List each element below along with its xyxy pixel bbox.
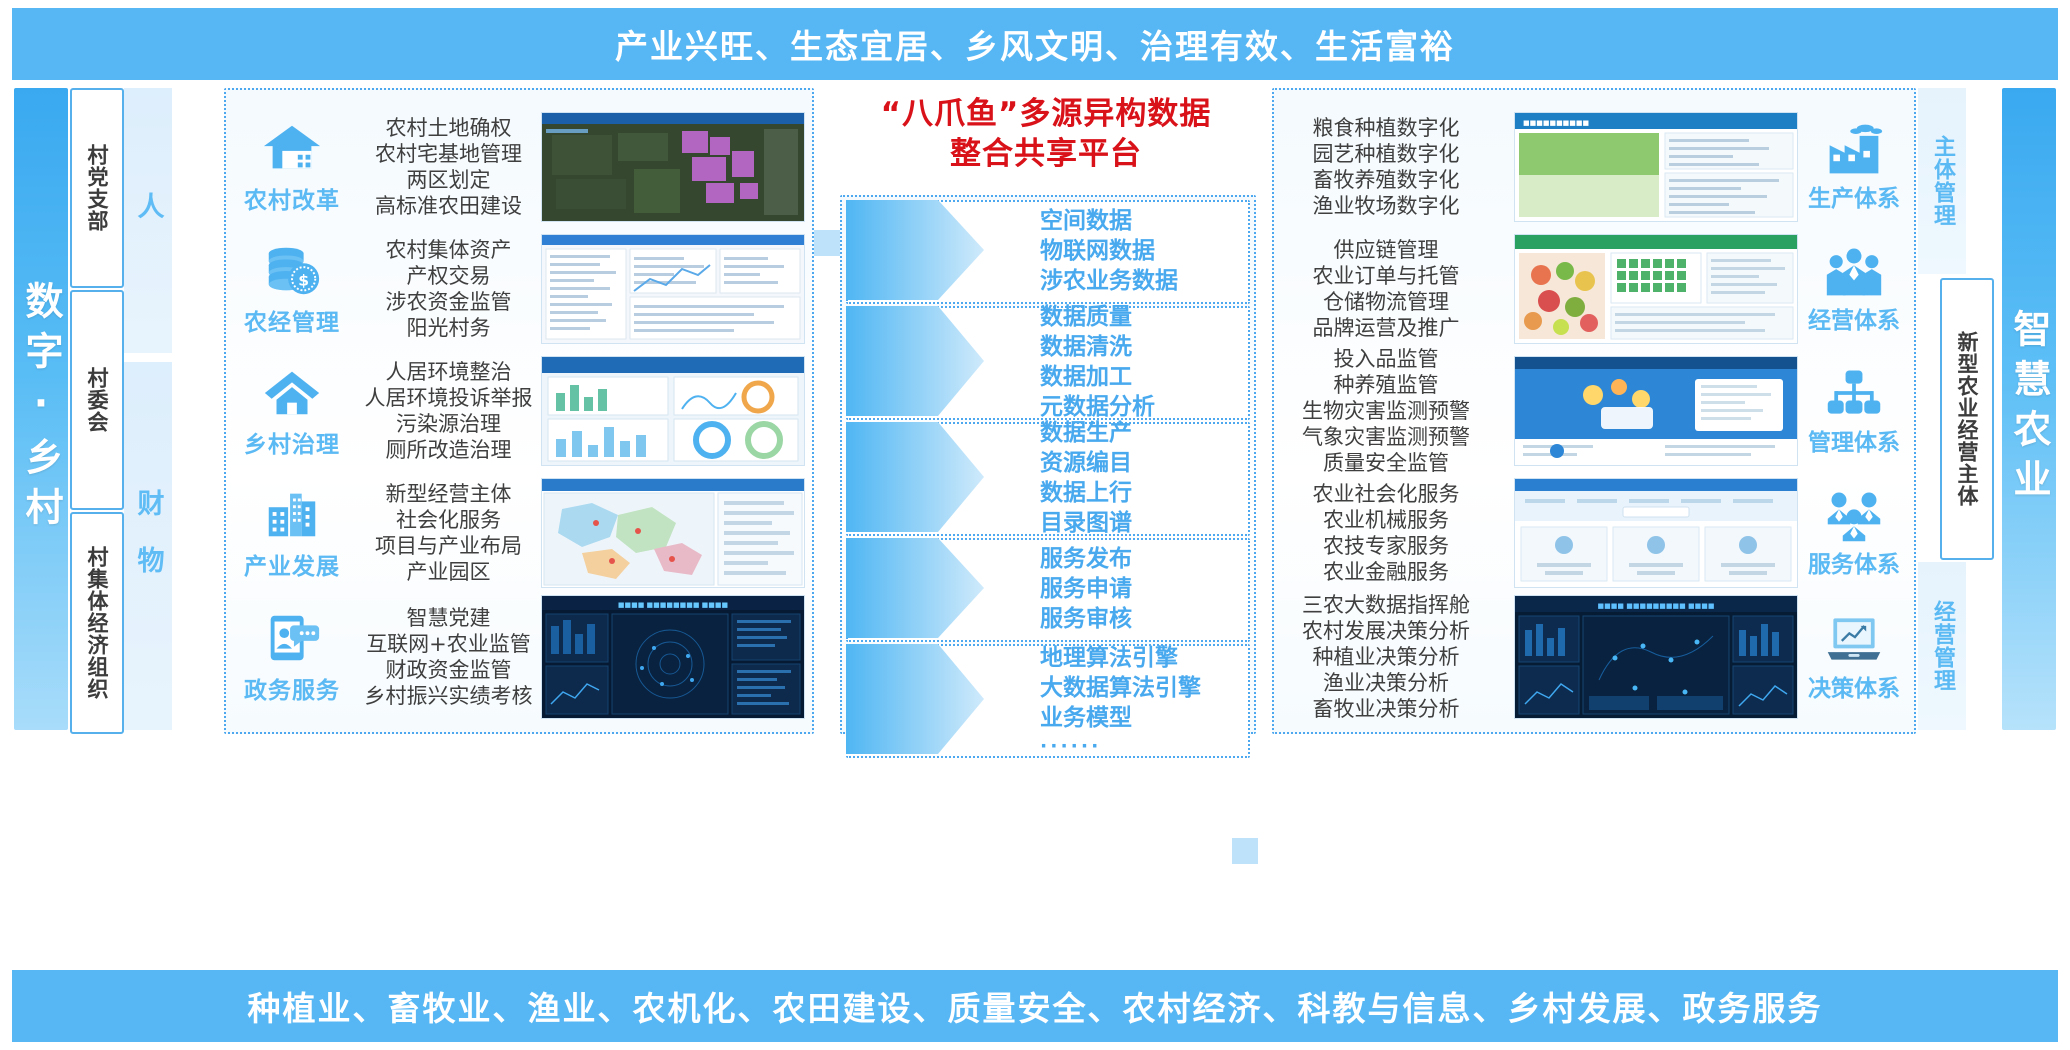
item-text: 农业订单与托管 [1272,263,1500,289]
org-box-label: 村委会 [86,367,108,433]
org-box-village-committee: 村委会 [70,290,124,510]
left-row-items: 农村集体资产 产权交易 涉农资金监管 阳光村务 [356,237,541,341]
right-row-decision-system: ■■■■ ■■■■■■■■■ ■■■■ [1272,596,1912,718]
org-box-label: 村党支部 [86,144,108,232]
left-row-items: 农村土地确权 农村宅基地管理 两区划定 高标准农田建设 [356,115,541,219]
stage-collect: 采集 空间数据 物联网数据 涉农业务数据 [846,200,1246,304]
item-text: 空间数据 [1040,207,1178,237]
item-text: 数据加工 [1040,363,1155,393]
left-row-label: 政务服务 [244,671,340,705]
item-text: 阳光村务 [356,315,541,341]
item-text: 互联网+农业监管 [356,631,541,657]
item-text: 厕所改造治理 [356,437,541,463]
left-row-label: 农村改革 [244,181,340,215]
chevron-shape [846,422,994,532]
item-text: 种养殖监管 [1272,372,1500,398]
left-row-items: 新型经营主体 社会化服务 项目与产业布局 产业园区 [356,481,541,585]
item-text: 农业金融服务 [1272,559,1500,585]
item-text: 新型经营主体 [356,481,541,507]
center-platform-title: “八爪鱼”多源异构数据 整合共享平台 [836,95,1256,174]
left-row-label: 农经管理 [244,303,340,337]
icon-block: 服务体系 [1798,487,1910,579]
item-text: 目录图谱 [1040,509,1132,539]
stage-items: 数据生产 资源编目 数据上行 目录图谱 [1040,419,1132,539]
icon-block: 管理体系 [1798,365,1910,457]
right-rail-title: 智慧农业 [2010,309,2048,509]
item-text: 产权交易 [356,263,541,289]
left-row-rural-governance: 乡村治理 人居环境整治 人居环境投诉举报 污染源治理 厕所改造治理 [228,352,814,470]
laptop-chart-icon [1824,611,1884,667]
group-people-icon [1824,243,1884,299]
item-text: 农业社会化服务 [1272,481,1500,507]
item-text: 农村宅基地管理 [356,141,541,167]
stage-items: 地理算法引擎 大数据算法引擎 业务模型 ······ [1040,644,1201,758]
screenshot-green-farm-portal: ■■■■■■■■■■ [1514,112,1798,222]
top-banner-text: 产业兴旺、生态宜居、乡风文明、治理有效、生活富裕 [615,20,1455,68]
band-finance-assets: 财物 [124,362,172,730]
right-row-items: 供应链管理 农业订单与托管 仓储物流管理 品牌运营及推广 [1272,237,1500,341]
buildings-icon [261,485,323,543]
item-text: 数据上行 [1040,479,1132,509]
screenshot-dark-command-center: ■■■■ ■■■■■■■■ ■■■■ [541,595,805,719]
item-text: 污染源治理 [356,411,541,437]
item-text-ellipsis: ······ [1040,734,1201,759]
item-text: 畜牧业决策分析 [1272,696,1500,722]
screenshot-governance-charts-dashboard [541,356,805,466]
stage-items: 空间数据 物联网数据 涉农业务数据 [1040,207,1178,297]
left-row-items: 人居环境整治 人居环境投诉举报 污染源治理 厕所改造治理 [356,359,541,463]
item-text: 服务申请 [1040,575,1132,605]
band-subject-management-label: 主体管理 [1926,135,1958,227]
item-text: 数据生产 [1040,419,1132,449]
svg-text:■■■■ ■■■■■■■■ ■■■■: ■■■■ ■■■■■■■■ ■■■■ [618,601,728,609]
item-text: 产业园区 [356,559,541,585]
right-row-items: 农业社会化服务 农业机械服务 农技专家服务 农业金融服务 [1272,481,1500,585]
item-text: 数据质量 [1040,303,1155,333]
factory-icon [1824,121,1884,177]
org-box-column: 村党支部 村委会 村集体经济组织 [70,88,120,730]
left-rail-digital-village: 数字·乡村 [14,88,68,730]
item-text: 仓储物流管理 [1272,289,1500,315]
band-finance-assets-label: 财物 [129,489,168,603]
item-text: 质量安全监管 [1272,450,1500,476]
home-icon [261,363,323,421]
right-row-label: 管理体系 [1808,423,1900,457]
top-banner: 产业兴旺、生态宜居、乡风文明、治理有效、生活富裕 [12,8,2058,80]
item-text: 农村土地确权 [356,115,541,141]
band-people-label: 人 [129,192,168,249]
center-title-line2: 整合共享平台 [836,135,1256,175]
item-text: 粮食种植数字化 [1272,115,1500,141]
right-row-label: 生产体系 [1808,179,1900,213]
item-text: 社会化服务 [356,507,541,533]
icon-block: 乡村治理 [228,363,356,459]
item-text: 智慧党建 [356,605,541,631]
band-subject-management: 主体管理 [1918,88,1966,274]
left-row-government-service: 政务服务 智慧党建 互联网+农业监管 财政资金监管 乡村振兴实绩考核 ■■■■ … [228,596,814,718]
screenshot-service-platform-page [1514,478,1798,588]
item-text: 涉农资金监管 [356,289,541,315]
item-text: 乡村振兴实绩考核 [356,683,541,709]
left-row-rural-reform: 农村改革 农村土地确权 农村宅基地管理 两区划定 高标准农田建设 [228,108,814,226]
icon-block: 生产体系 [1798,121,1910,213]
stage-service: 服务 服务发布 服务申请 服务审核 [846,538,1246,642]
center-title-line1: “八爪鱼”多源异构数据 [836,95,1256,135]
item-text: 农村发展决策分析 [1272,618,1500,644]
icon-block: $ 农经管理 [228,241,356,337]
item-text: 涉农业务数据 [1040,267,1178,297]
connector-left [814,230,840,256]
screenshot-industry-distribution-map [541,478,805,588]
coins-dollar-icon: $ [261,241,323,299]
item-text: 投入品监管 [1272,346,1500,372]
svg-text:$: $ [298,272,309,290]
item-text: 大数据算法引擎 [1040,674,1201,704]
item-text: 渔业决策分析 [1272,670,1500,696]
right-row-service-system: 农业社会化服务 农业机械服务 农技专家服务 农业金融服务 服务体系 [1272,474,1912,592]
org-tree-icon [1824,365,1884,421]
stage-compute: 计算 地理算法引擎 大数据算法引擎 业务模型 ······ [846,644,1246,758]
stage-govern: 治理 数据质量 数据清洗 数据加工 元数据分析 [846,306,1246,420]
stage-items: 服务发布 服务申请 服务审核 [1040,545,1132,635]
band-operation-management-label: 经营管理 [1926,600,1958,692]
left-row-label: 产业发展 [244,547,340,581]
right-row-items: 投入品监管 种养殖监管 生物灾害监测预警 气象灾害监测预警 质量安全监管 [1272,346,1500,476]
item-text: 地理算法引擎 [1040,644,1201,674]
org-box-collective-economy: 村集体经济组织 [70,512,124,734]
left-row-items: 智慧党建 互联网+农业监管 财政资金监管 乡村振兴实绩考核 [356,605,541,709]
icon-block: 产业发展 [228,485,356,581]
icon-block: 经营体系 [1798,243,1910,335]
three-people-icon [1824,487,1884,543]
band-operation-management: 经营管理 [1918,562,1966,730]
org-box-party-branch: 村党支部 [70,88,124,288]
right-row-label: 经营体系 [1808,301,1900,335]
item-text: 人居环境整治 [356,359,541,385]
screenshot-dark-bigdata-dashboard: ■■■■ ■■■■■■■■■ ■■■■ [1514,595,1798,719]
item-text: 渔业牧场数字化 [1272,193,1500,219]
item-text: 农业机械服务 [1272,507,1500,533]
bottom-banner-text: 种植业、畜牧业、渔业、农机化、农田建设、质量安全、农村经济、科教与信息、乡村发展… [248,982,1823,1030]
item-text: 两区划定 [356,167,541,193]
svg-text:■■■■■■■■■■: ■■■■■■■■■■ [1523,119,1589,127]
connector-right [1232,838,1258,864]
right-row-label: 决策体系 [1808,669,1900,703]
left-row-label: 乡村治理 [244,425,340,459]
right-rail-smart-agriculture: 智慧农业 [2002,88,2056,730]
left-row-agri-economy: $ 农经管理 农村集体资产 产权交易 涉农资金监管 阳光村务 [228,230,814,348]
box-new-agri-operators: 新型农业经营主体 [1940,278,1994,560]
icon-block: 农村改革 [228,119,356,215]
item-text: 气象灾害监测预警 [1272,424,1500,450]
item-text: 供应链管理 [1272,237,1500,263]
chevron-shape [846,306,994,416]
item-text: 数据清洗 [1040,333,1155,363]
screenshot-satellite-farmland-map [541,112,805,222]
band-people: 人 [124,88,172,353]
item-text: 农村集体资产 [356,237,541,263]
item-text: 业务模型 [1040,704,1201,734]
item-text: 物联网数据 [1040,237,1178,267]
box-new-agri-operators-label: 新型农业经营主体 [1952,331,1982,507]
icon-block: 决策体系 [1798,611,1910,703]
chevron-shape [846,200,994,300]
item-text: 畜牧养殖数字化 [1272,167,1500,193]
right-row-production-system: ■■■■■■■■■■ 粮食种植数字化 园艺种植数字化 畜牧养殖数字化 渔业牧场数… [1272,108,1912,226]
right-row-management-system: 投入品监管 种养殖监管 生物灾害监测预警 气象灾害监测预警 质量安全监管 管理体… [1272,352,1912,470]
chevron-shape [846,538,994,638]
item-text: 生物灾害监测预警 [1272,398,1500,424]
stage-items: 数据质量 数据清洗 数据加工 元数据分析 [1040,303,1155,423]
left-row-industry-development: 产业发展 新型经营主体 社会化服务 项目与产业布局 产业园区 [228,474,814,592]
item-text: 三农大数据指挥舱 [1272,592,1500,618]
chevron-shape [846,644,994,754]
org-box-label: 村集体经济组织 [86,546,108,700]
left-rail-title: 数字·乡村 [22,281,60,537]
screenshot-produce-ecommerce-page [1514,234,1798,344]
item-text: 高标准农田建设 [356,193,541,219]
screenshot-asset-dashboard-tables [541,234,805,344]
right-row-label: 服务体系 [1808,545,1900,579]
item-text: 资源编目 [1040,449,1132,479]
item-text: 服务审核 [1040,605,1132,635]
item-text: 项目与产业布局 [356,533,541,559]
icon-block: 政务服务 [228,609,356,705]
right-row-operation-system: 供应链管理 农业订单与托管 仓储物流管理 品牌运营及推广 经营体系 [1272,230,1912,348]
item-text: 园艺种植数字化 [1272,141,1500,167]
right-row-items: 粮食种植数字化 园艺种植数字化 畜牧养殖数字化 渔业牧场数字化 [1272,115,1500,219]
item-text: 人居环境投诉举报 [356,385,541,411]
item-text: 农技专家服务 [1272,533,1500,559]
stage-manage: 管理 数据生产 资源编目 数据上行 目录图谱 [846,422,1246,536]
infographic-canvas: 产业兴旺、生态宜居、乡风文明、治理有效、生活富裕 数字·乡村 村党支部 村委会 … [0,0,2070,1050]
house-roof-icon [261,119,323,177]
item-text: 服务发布 [1040,545,1132,575]
item-text: 种植业决策分析 [1272,644,1500,670]
screenshot-blue-supervision-portal [1514,356,1798,466]
svg-text:■■■■ ■■■■■■■■■ ■■■■: ■■■■ ■■■■■■■■■ ■■■■ [1598,602,1715,610]
bottom-banner: 种植业、畜牧业、渔业、农机化、农田建设、质量安全、农村经济、科教与信息、乡村发展… [12,970,2058,1042]
right-row-items: 三农大数据指挥舱 农村发展决策分析 种植业决策分析 渔业决策分析 畜牧业决策分析 [1272,592,1500,722]
item-text: 财政资金监管 [356,657,541,683]
mobile-person-chat-icon [261,609,323,667]
item-text: 品牌运营及推广 [1272,315,1500,341]
